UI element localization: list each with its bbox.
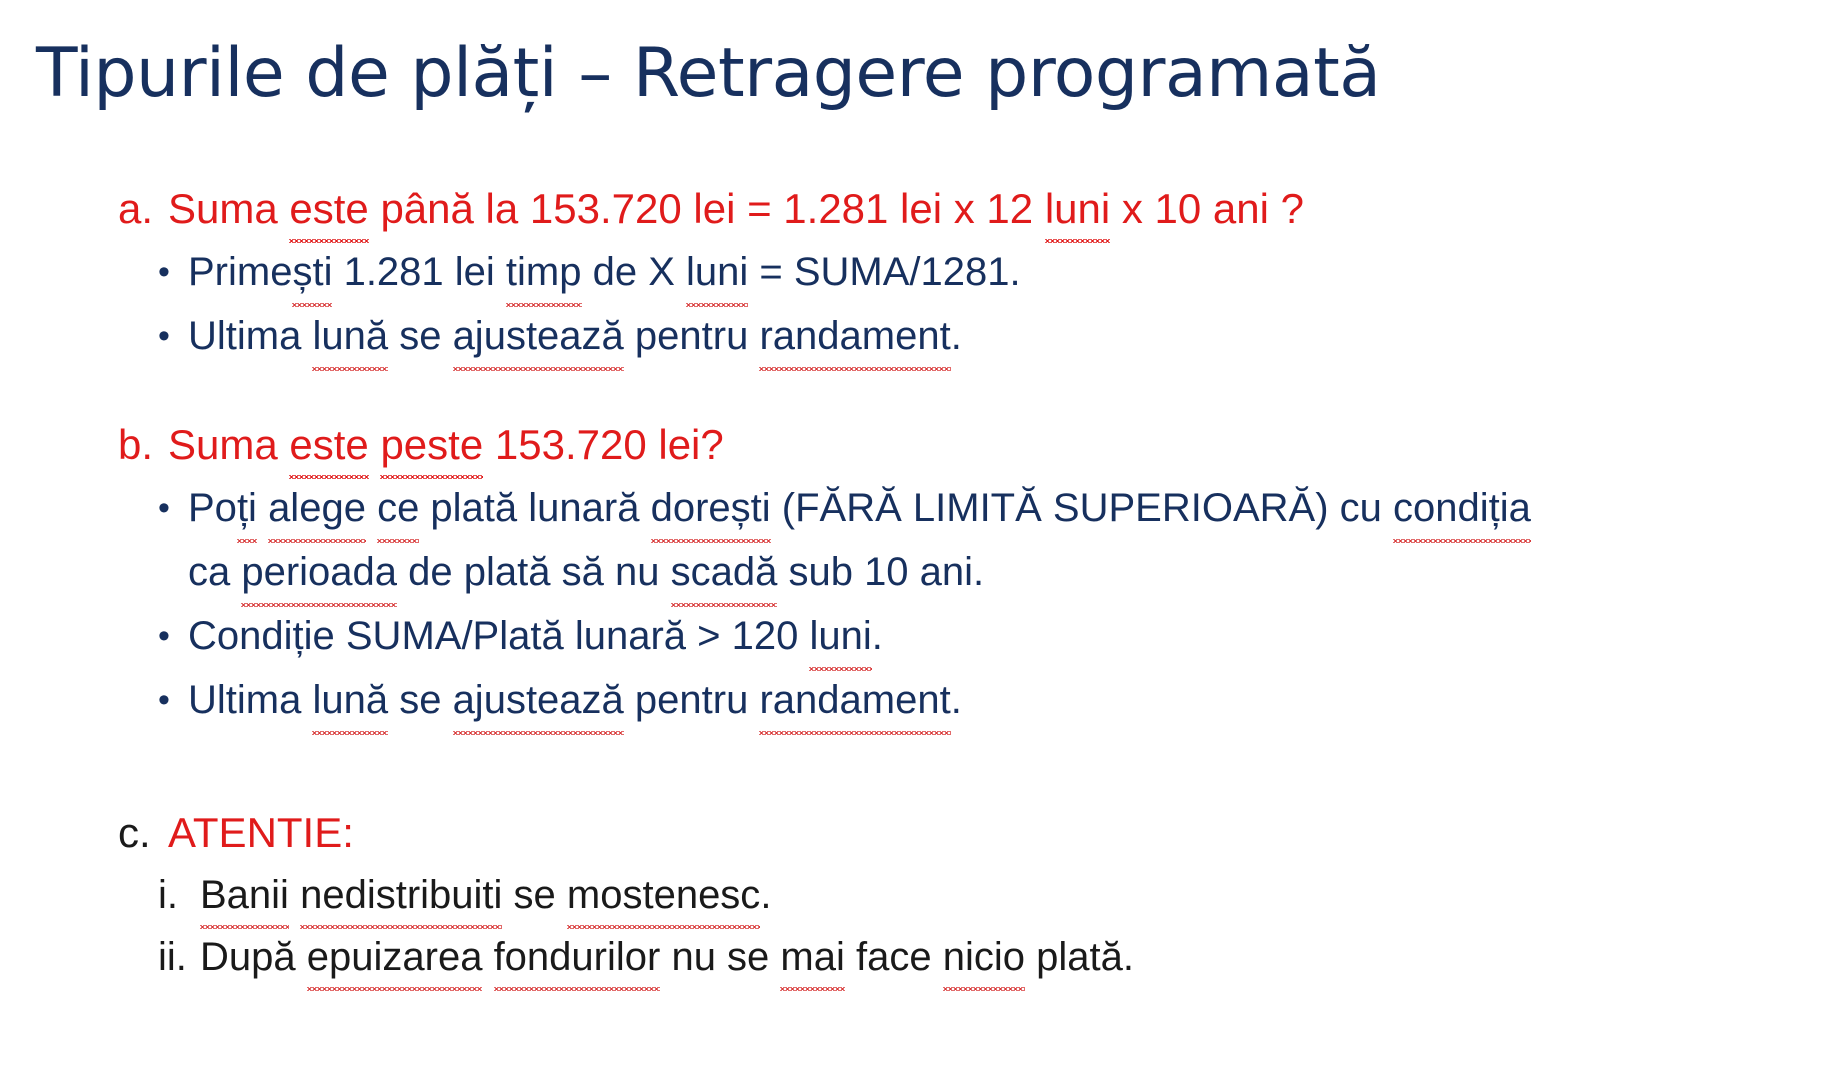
- sub-item-c1-text: Banii nedistribuiti se mostenesc.: [200, 864, 771, 926]
- misspelled-word: este: [289, 178, 368, 240]
- text-fragment: [289, 873, 300, 917]
- text-fragment: Condiție SUMA/Plată lunară > 120: [188, 614, 809, 658]
- sub-bullet-b1: • Poți alege ce plată lunară dorești (FĂ…: [0, 476, 1843, 604]
- text-fragment: de plată să nu: [397, 550, 671, 594]
- text-fragment: face: [845, 935, 943, 979]
- misspelled-word: condiția: [1393, 476, 1531, 540]
- text-fragment: Po: [188, 486, 237, 530]
- misspelled-word: randament: [759, 668, 950, 732]
- sub-bullet-a2-text: Ultima lună se ajustează pentru randamen…: [188, 304, 962, 368]
- bullet-dot-icon: •: [158, 668, 188, 732]
- misspelled-word: epuizarea: [307, 926, 483, 988]
- text-fragment: nu se: [660, 935, 780, 979]
- misspelled-word: mai: [780, 926, 844, 988]
- list-marker-a: a.: [118, 178, 168, 240]
- sub-bullet-a1: • Primești 1.281 lei timp de X luni = SU…: [0, 240, 1843, 304]
- text-fragment: Ultima: [188, 314, 312, 358]
- list-marker-c: c.: [118, 802, 168, 864]
- list-item-c-text: ATENTIE:: [168, 802, 354, 864]
- misspelled-word: fondurilor: [494, 926, 661, 988]
- bullet-dot-icon: •: [158, 476, 188, 540]
- sub-bullet-a2: • Ultima lună se ajustează pentru randam…: [0, 304, 1843, 368]
- misspelled-word: luni: [686, 240, 748, 304]
- text-fragment: Ultima: [188, 678, 312, 722]
- sub-item-c2-text: După epuizarea fondurilor nu se mai face…: [200, 926, 1134, 988]
- sub-item-c1: i. Banii nedistribuiti se mostenesc.: [0, 864, 1843, 926]
- misspelled-word: ajustează: [453, 304, 624, 368]
- text-fragment: de X: [582, 250, 687, 294]
- roman-marker-ii: ii.: [158, 926, 200, 988]
- bullet-dot-icon: •: [158, 240, 188, 304]
- text-fragment: [366, 486, 377, 530]
- misspelled-word: ți: [237, 476, 257, 540]
- text-fragment: [369, 421, 381, 468]
- misspelled-word: perioada: [241, 540, 397, 604]
- text-fragment: Prime: [188, 250, 292, 294]
- text-fragment: Suma: [168, 185, 289, 232]
- text-fragment: = SUMA/1281.: [748, 250, 1020, 294]
- text-fragment: sub 10 ani.: [777, 550, 984, 594]
- misspelled-word: randament: [759, 304, 950, 368]
- misspelled-word: ce: [377, 476, 419, 540]
- misspelled-word: Banii: [200, 864, 289, 926]
- misspelled-word: lună: [312, 668, 388, 732]
- text-fragment: plată lunară: [419, 486, 650, 530]
- text-fragment: [482, 935, 493, 979]
- sub-bullet-a1-text: Primești 1.281 lei timp de X luni = SUMA…: [188, 240, 1021, 304]
- text-fragment: x 10 ani ?: [1110, 185, 1304, 232]
- sub-bullet-b3: • Ultima lună se ajustează pentru randam…: [0, 668, 1843, 732]
- text-fragment: .: [872, 614, 883, 658]
- misspelled-word: ști: [292, 240, 332, 304]
- misspelled-word: peste: [380, 414, 483, 476]
- sub-bullet-b1-text: Poți alege ce plată lunară dorești (FĂRĂ…: [188, 476, 1531, 604]
- misspelled-word: lună: [312, 304, 388, 368]
- text-fragment: ca: [188, 550, 241, 594]
- misspelled-word: luni: [809, 604, 871, 668]
- slide-title: Tipurile de plăți – Retragere programată: [36, 32, 1380, 116]
- misspelled-word: nedistribuiti: [300, 864, 502, 926]
- text-fragment: pentru: [624, 678, 760, 722]
- sub-bullet-b3-text: Ultima lună se ajustează pentru randamen…: [188, 668, 962, 732]
- text-fragment: [257, 486, 268, 530]
- text-fragment: După: [200, 935, 307, 979]
- bullet-dot-icon: •: [158, 604, 188, 668]
- text-fragment: se: [388, 314, 452, 358]
- roman-marker-i: i.: [158, 864, 200, 926]
- misspelled-word: mostenesc: [567, 864, 760, 926]
- sub-bullet-b2: • Condiție SUMA/Plată lunară > 120 luni.: [0, 604, 1843, 668]
- slide-canvas: Tipurile de plăți – Retragere programată…: [0, 0, 1843, 1080]
- text-fragment: Suma: [168, 421, 289, 468]
- text-fragment: (FĂRĂ LIMITĂ SUPERIOARĂ) cu: [771, 486, 1393, 530]
- misspelled-word: dorești: [651, 476, 771, 540]
- sub-bullet-b2-text: Condiție SUMA/Plată lunară > 120 luni.: [188, 604, 883, 668]
- misspelled-word: ajustează: [453, 668, 624, 732]
- misspelled-word: este: [289, 414, 368, 476]
- list-item-c: c. ATENTIE:: [0, 802, 1843, 864]
- text-fragment: 1.281 lei: [332, 250, 505, 294]
- text-fragment: 153.720 lei?: [483, 421, 724, 468]
- text-fragment: până la 153.720 lei = 1.281 lei x 12: [369, 185, 1045, 232]
- section-spacer: [0, 732, 1843, 802]
- misspelled-word: luni: [1045, 178, 1110, 240]
- text-fragment: .: [951, 678, 962, 722]
- list-item-a-text: Suma este până la 153.720 lei = 1.281 le…: [168, 178, 1304, 240]
- list-item-a: a. Suma este până la 153.720 lei = 1.281…: [0, 178, 1843, 240]
- list-item-b: b. Suma este peste 153.720 lei?: [0, 414, 1843, 476]
- text-fragment: plată.: [1025, 935, 1134, 979]
- wrapped-line-2: ca perioada de plată să nu scadă sub 10 …: [188, 540, 1531, 604]
- text-fragment: pentru: [624, 314, 760, 358]
- misspelled-word: timp: [506, 240, 582, 304]
- list-marker-b: b.: [118, 414, 168, 476]
- misspelled-word: scadă: [671, 540, 778, 604]
- section-spacer: [0, 368, 1843, 414]
- text-fragment: se: [502, 873, 566, 917]
- bullet-dot-icon: •: [158, 304, 188, 368]
- misspelled-word: alege: [268, 476, 366, 540]
- text-fragment: se: [388, 678, 452, 722]
- misspelled-word: nicio: [943, 926, 1025, 988]
- sub-item-c2: ii. După epuizarea fondurilor nu se mai …: [0, 926, 1843, 988]
- list-item-b-text: Suma este peste 153.720 lei?: [168, 414, 724, 476]
- text-fragment: .: [760, 873, 771, 917]
- wrapped-line-1: Poți alege ce plată lunară dorești (FĂRĂ…: [188, 476, 1531, 540]
- text-fragment: .: [951, 314, 962, 358]
- slide-body: a. Suma este până la 153.720 lei = 1.281…: [0, 178, 1843, 988]
